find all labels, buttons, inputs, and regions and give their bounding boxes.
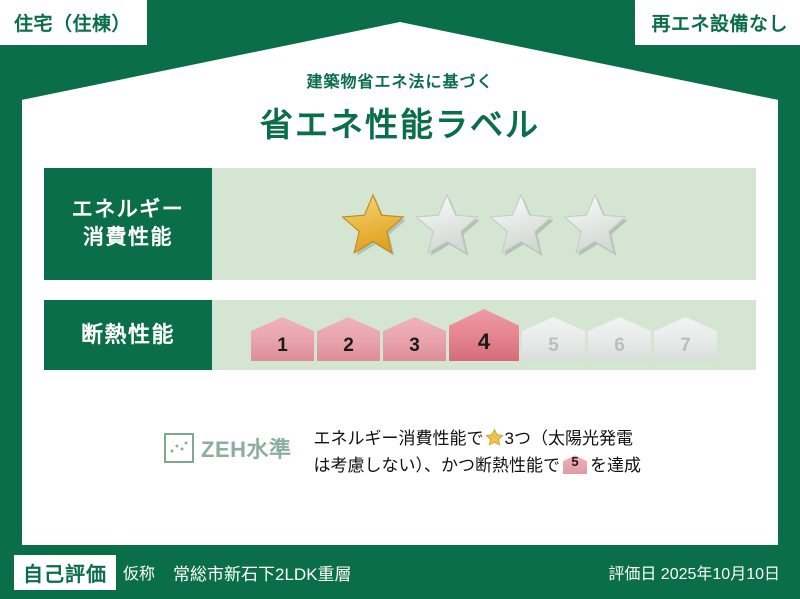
star-empty-icon — [415, 192, 479, 256]
title-subtitle: 建築物省エネ法に基づく — [0, 68, 800, 92]
star-empty-icon — [489, 192, 553, 256]
label-footer: 自己評価 仮称 常総市新石下2LDK重層 評価日 2025年10月10日 — [0, 545, 800, 599]
insulation-level-number: 6 — [588, 335, 651, 357]
zeh-desc-part2: 3つ（太陽光発電 — [505, 429, 633, 448]
energy-performance-label: 住宅（住棟） 再エネ設備なし 建築物省エネ法に基づく 省エネ性能ラベル エネルギ… — [0, 0, 800, 599]
building-type-tag: 住宅（住棟） — [0, 0, 147, 45]
insulation-performance-row: 断熱性能 1234567 — [44, 300, 756, 370]
insulation-level-number: 7 — [654, 335, 717, 357]
insulation-performance-label: 断熱性能 — [44, 300, 212, 370]
insulation-level-5: 5 — [522, 317, 585, 361]
zeh-dots-icon — [164, 433, 194, 463]
energy-performance-label: エネルギー 消費性能 — [44, 168, 212, 280]
zeh-desc-part3: は考慮しない）、かつ断熱性能で — [314, 456, 561, 475]
zeh-badge-label: ZEH水準 — [201, 432, 292, 464]
inline-star-icon — [485, 428, 504, 447]
evaluation-type-badge: 自己評価 — [14, 555, 116, 590]
insulation-level-number: 3 — [383, 335, 446, 357]
alias-label: 仮称 — [123, 560, 155, 584]
renewable-energy-tag: 再エネ設備なし — [635, 0, 800, 45]
page-title: 省エネ性能ラベル — [0, 98, 800, 146]
star-rating — [341, 192, 627, 256]
insulation-level-scale: 1234567 — [251, 309, 717, 361]
energy-performance-value — [212, 168, 756, 280]
zeh-desc-part1: エネルギー消費性能で — [314, 429, 484, 448]
star-empty-icon — [563, 192, 627, 256]
insulation-level-3: 3 — [383, 317, 446, 361]
zeh-desc-part4: を達成 — [590, 456, 641, 475]
insulation-level-number: 4 — [449, 329, 519, 355]
insulation-label-text: 断熱性能 — [81, 320, 175, 350]
insulation-level-number: 2 — [317, 335, 380, 357]
energy-label-line1: エネルギー — [72, 196, 185, 224]
inline-chip-value: 5 — [563, 455, 587, 474]
evaluation-date-label: 評価日 — [608, 566, 656, 583]
zeh-badge: ZEH水準 — [164, 432, 292, 464]
evaluation-date-value: 2025年10月10日 — [661, 566, 780, 583]
inline-insulation-chip: 5 — [563, 455, 587, 474]
zeh-standard-note: ZEH水準 エネルギー消費性能で3つ（太陽光発電 は考慮しない）、かつ断熱性能で… — [44, 420, 756, 479]
insulation-level-number: 5 — [522, 335, 585, 357]
insulation-level-4: 4 — [449, 309, 519, 361]
zeh-description: エネルギー消費性能で3つ（太陽光発電 は考慮しない）、かつ断熱性能で5を達成 — [314, 420, 756, 479]
insulation-level-6: 6 — [588, 317, 651, 361]
evaluation-date: 評価日 2025年10月10日 — [608, 560, 780, 584]
title-block: 建築物省エネ法に基づく 省エネ性能ラベル — [0, 68, 800, 146]
insulation-level-number: 1 — [251, 335, 314, 357]
insulation-level-1: 1 — [251, 317, 314, 361]
insulation-level-2: 2 — [317, 317, 380, 361]
insulation-performance-value: 1234567 — [212, 300, 756, 370]
building-name: 常総市新石下2LDK重層 — [173, 560, 352, 585]
star-filled-icon — [341, 192, 405, 256]
insulation-level-7: 7 — [654, 317, 717, 361]
energy-performance-row: エネルギー 消費性能 — [44, 168, 756, 280]
energy-label-line2: 消費性能 — [83, 224, 173, 252]
